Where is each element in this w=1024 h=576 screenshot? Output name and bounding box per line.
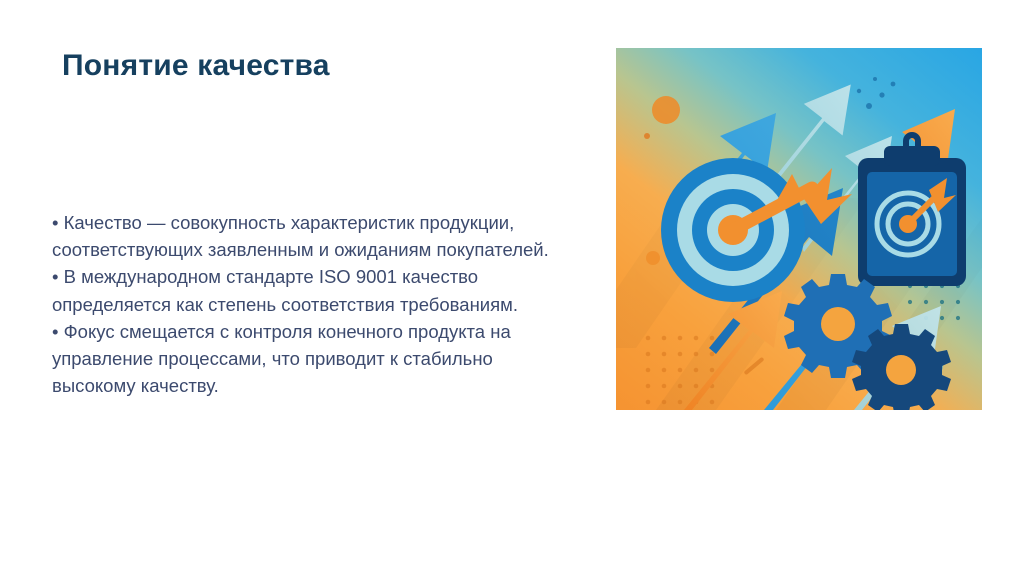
quality-illustration [616, 48, 982, 410]
illustration-svg [616, 48, 982, 410]
page-title: Понятие качества [62, 48, 330, 84]
dot-cluster-topright [857, 77, 896, 109]
body-line: высокому качеству. [52, 372, 572, 399]
body-line: управление процессами, что приводит к ст… [52, 345, 572, 372]
body-line: соответствующих заявленным и ожиданиям п… [52, 236, 572, 263]
body-line: • Фокус смещается с контроля конечного п… [52, 318, 572, 345]
body-text-block: • Качество — совокупность характеристик … [52, 209, 572, 399]
slide: Понятие качества • Качество — совокупнос… [0, 0, 1024, 576]
body-line: определяется как степень соответствия тр… [52, 291, 572, 318]
body-line: • В международном стандарте ISO 9001 кач… [52, 263, 572, 290]
body-line: • Качество — совокупность характеристик … [52, 209, 572, 236]
